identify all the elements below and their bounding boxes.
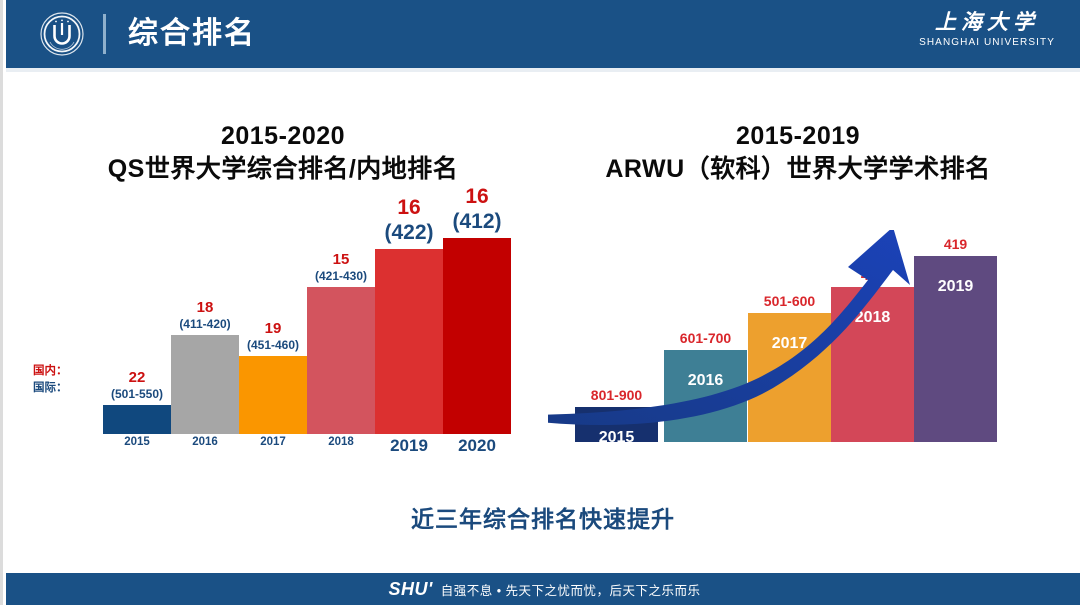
qs-x-label-2016: 2016 (171, 436, 239, 448)
footer-motto: 自强不息 • 先天下之忧而忧，后天下之乐而乐 (441, 580, 701, 599)
arwu-top-label-2018: 482 (817, 267, 928, 283)
header-divider (103, 14, 106, 54)
arwu-bar-2017 (748, 313, 831, 442)
arwu-inner-label-2016: 2016 (664, 372, 747, 390)
arwu-top-label-2019: 419 (900, 236, 1011, 252)
qs-international-rank: (412) (427, 209, 527, 235)
qs-data-label-2020: 16(412) (427, 184, 527, 235)
slide: 综合排名 上海大学 SHANGHAI UNIVERSITY 2015-2020 … (0, 0, 1080, 605)
qs-bar-2015 (103, 405, 171, 434)
left-chart-title: 2015-2020 QS世界大学综合排名/内地排名 (43, 120, 523, 186)
arwu-top-label-2016: 601-700 (650, 330, 761, 346)
arwu-top-label-2015: 801-900 (561, 387, 672, 403)
arwu-top-label-2017: 501-600 (734, 293, 845, 309)
left-chart-title-line1: 2015-2020 (43, 120, 523, 153)
right-chart-title-line2: ARWU（软科）世界大学学术排名 (548, 153, 1048, 186)
qs-x-label-2017: 2017 (239, 436, 307, 448)
brand-name-cn: 上海大学 (919, 8, 1055, 36)
arwu-ranking-bar-chart: 801-9002015601-7002016501-60020174822018… (548, 230, 1058, 460)
qs-bar-2020 (443, 238, 511, 434)
shanghai-university-seal-icon (39, 11, 85, 57)
slide-footer: SHU' 自强不息 • 先天下之忧而忧，后天下之乐而乐 (6, 573, 1080, 605)
arwu-bars-container: 801-9002015601-7002016501-60020174822018… (548, 230, 1058, 460)
qs-bar-2019 (375, 249, 443, 434)
brand-name-en: SHANGHAI UNIVERSITY (919, 36, 1055, 50)
qs-bars-container: 22(501-550)18(411-420)19(451-460)15(421-… (23, 230, 523, 470)
page-title: 综合排名 (128, 19, 256, 49)
qs-x-label-2015: 2015 (103, 436, 171, 448)
qs-bar-2017 (239, 356, 307, 434)
right-chart-title-line1: 2015-2019 (548, 120, 1048, 153)
header-underline (6, 68, 1080, 72)
arwu-bar-2016 (664, 350, 747, 442)
qs-x-label-2018: 2018 (307, 436, 375, 448)
arwu-inner-label-2017: 2017 (748, 335, 831, 353)
slide-header: 综合排名 上海大学 SHANGHAI UNIVERSITY (6, 0, 1080, 68)
footer-shu-logo: SHU' (388, 579, 432, 600)
qs-bar-2018 (307, 287, 375, 434)
qs-ranking-bar-chart: 22(501-550)18(411-420)19(451-460)15(421-… (23, 230, 523, 470)
qs-domestic-rank: 18 (155, 299, 255, 317)
summary-tagline: 近三年综合排名快速提升 (3, 500, 1080, 534)
qs-x-label-2020: 2020 (443, 436, 511, 456)
right-chart-title: 2015-2019 ARWU（软科）世界大学学术排名 (548, 120, 1048, 186)
arwu-inner-label-2019: 2019 (914, 278, 997, 296)
arwu-inner-label-2018: 2018 (831, 309, 914, 327)
left-chart-title-line2: QS世界大学综合排名/内地排名 (43, 153, 523, 186)
qs-x-label-2019: 2019 (375, 436, 443, 456)
arwu-inner-label-2015: 2015 (575, 429, 658, 447)
qs-domestic-rank: 16 (427, 184, 527, 210)
university-brand: 上海大学 SHANGHAI UNIVERSITY (919, 8, 1055, 50)
